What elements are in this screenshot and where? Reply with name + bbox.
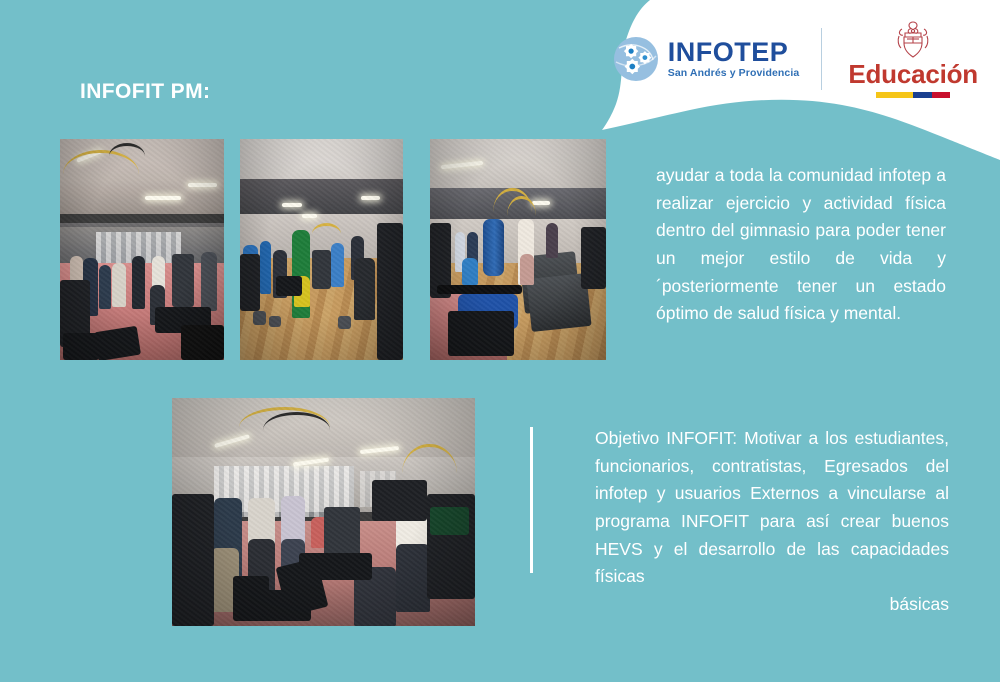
flag-stripe-blue [913, 92, 932, 98]
objective-paragraph-main: Objetivo INFOFIT: Motivar a los estudian… [595, 425, 949, 591]
infotep-name: INFOTEP [668, 37, 789, 67]
gym-wood-floor-photo [240, 139, 403, 360]
gym-treadmills-photo [430, 139, 606, 360]
educacion-wordmark: Educación [848, 61, 978, 88]
educacion-logo: Educación [822, 20, 982, 98]
slide-canvas: INFOTEP San Andrés y Providencia [0, 0, 1000, 682]
colombia-flag-bar [876, 92, 950, 98]
globe-gears-icon [613, 36, 659, 82]
gym-wide-group-photo [172, 398, 475, 626]
infotep-subtitle: San Andrés y Providencia [668, 68, 800, 79]
page-title: INFOFIT PM: [80, 80, 210, 104]
flag-stripe-red [932, 92, 951, 98]
objective-paragraph: Objetivo INFOFIT: Motivar a los estudian… [595, 425, 949, 618]
infotep-wordmark: INFOTEP San Andrés y Providencia [668, 39, 800, 79]
objective-accent-rule [530, 427, 533, 573]
gym-group-training-photo [60, 139, 224, 360]
infotep-logo: INFOTEP San Andrés y Providencia [613, 36, 822, 82]
flag-stripe-yellow [876, 92, 913, 98]
colombia-coat-of-arms-icon [894, 20, 932, 60]
intro-paragraph: ayudar a toda la comunidad infotep a rea… [656, 162, 946, 328]
objective-paragraph-tail: básicas [890, 594, 949, 614]
header-logos: INFOTEP San Andrés y Providencia [613, 18, 982, 100]
